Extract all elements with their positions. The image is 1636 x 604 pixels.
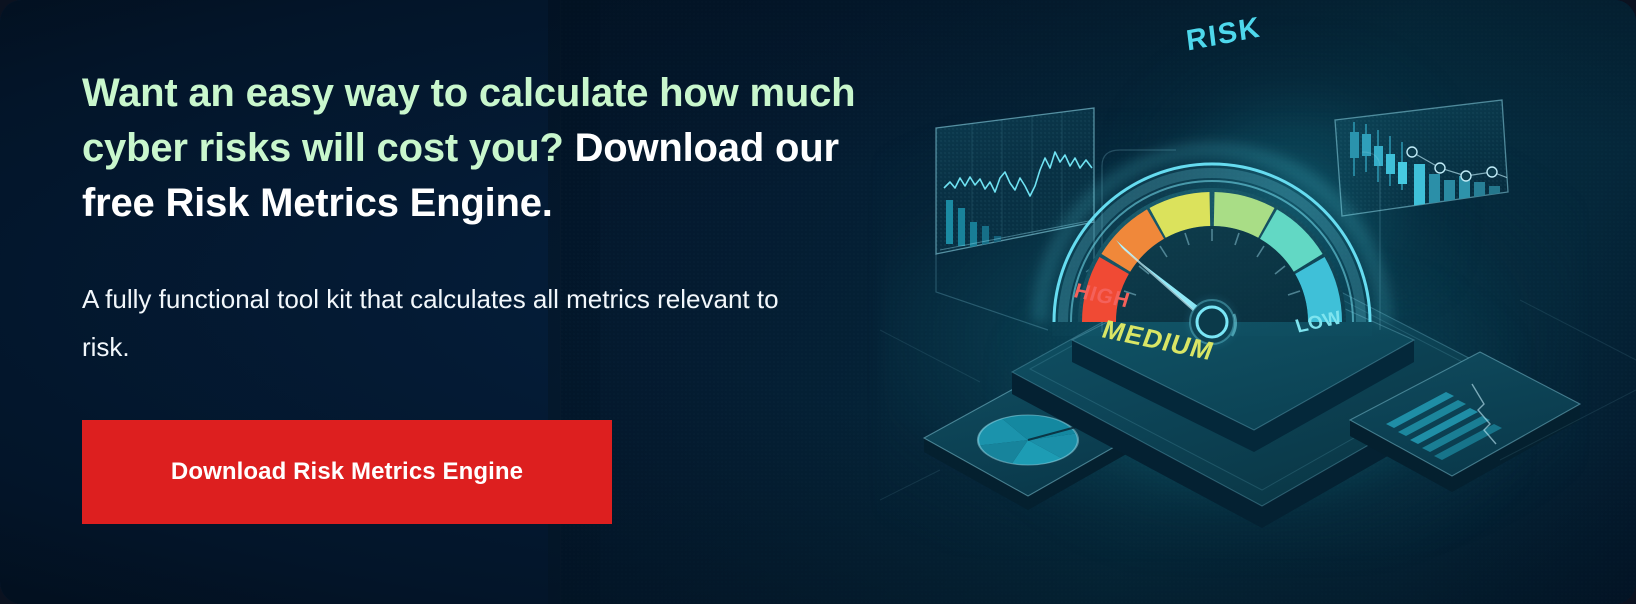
download-risk-metrics-engine-button[interactable]: Download Risk Metrics Engine — [82, 420, 612, 524]
promo-banner: Want an easy way to calculate how much c… — [0, 0, 1636, 604]
subheadline: A fully functional tool kit that calcula… — [82, 275, 822, 371]
pie-chart — [978, 415, 1078, 465]
banner-content: Want an easy way to calculate how much c… — [82, 66, 922, 524]
gauge-title-risk: RISK — [1185, 11, 1263, 57]
candlestick-panel — [1335, 100, 1508, 216]
page-title: Want an easy way to calculate how much c… — [82, 66, 922, 231]
risk-gauge-illustration: RISK HIGH MEDIUM LOW — [880, 0, 1636, 604]
